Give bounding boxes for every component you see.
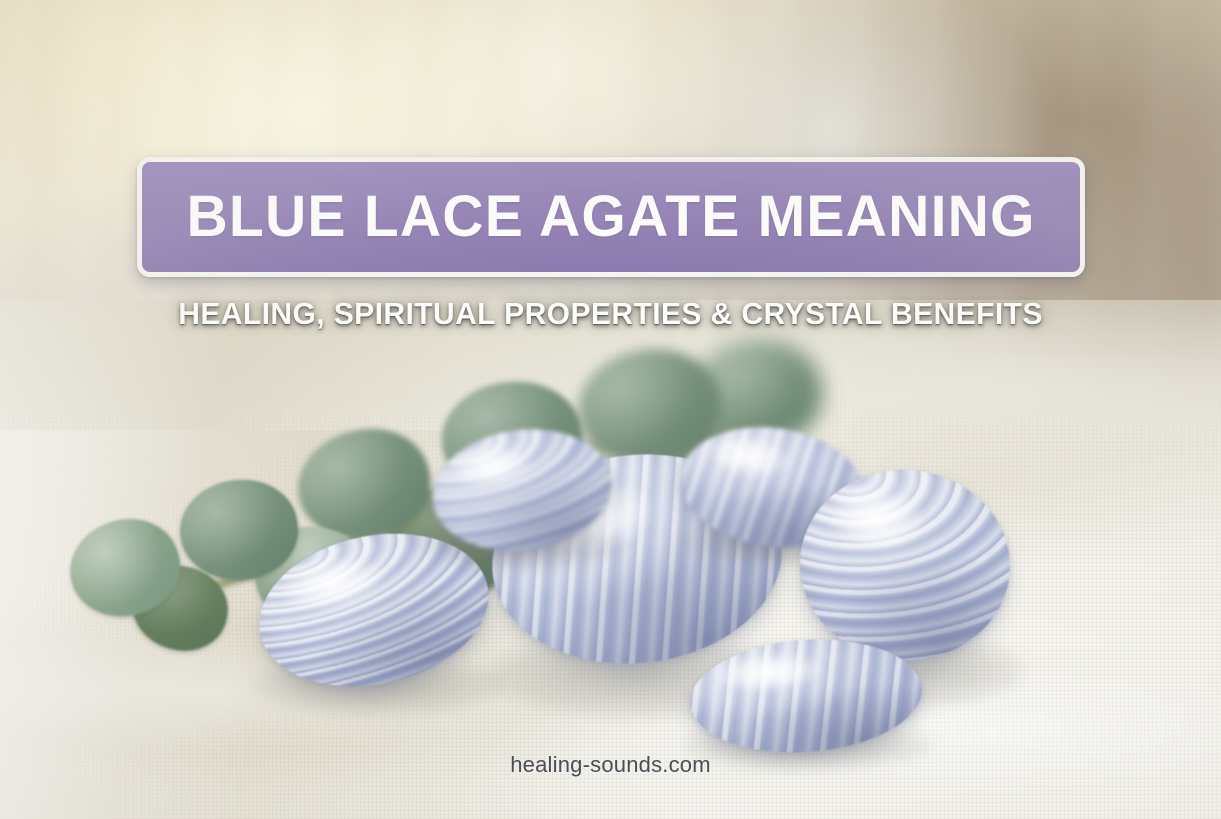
subtitle: HEALING, SPIRITUAL PROPERTIES & CRYSTAL … <box>18 296 1202 332</box>
page-title: BLUE LACE AGATE MEANING <box>186 188 1035 246</box>
hero-image: BLUE LACE AGATE MEANING HEALING, SPIRITU… <box>0 0 1221 819</box>
title-banner: BLUE LACE AGATE MEANING <box>137 157 1085 277</box>
site-watermark: healing-sounds.com <box>0 752 1221 778</box>
stone-back-left <box>425 418 620 562</box>
stone-bottom-front <box>686 632 925 760</box>
